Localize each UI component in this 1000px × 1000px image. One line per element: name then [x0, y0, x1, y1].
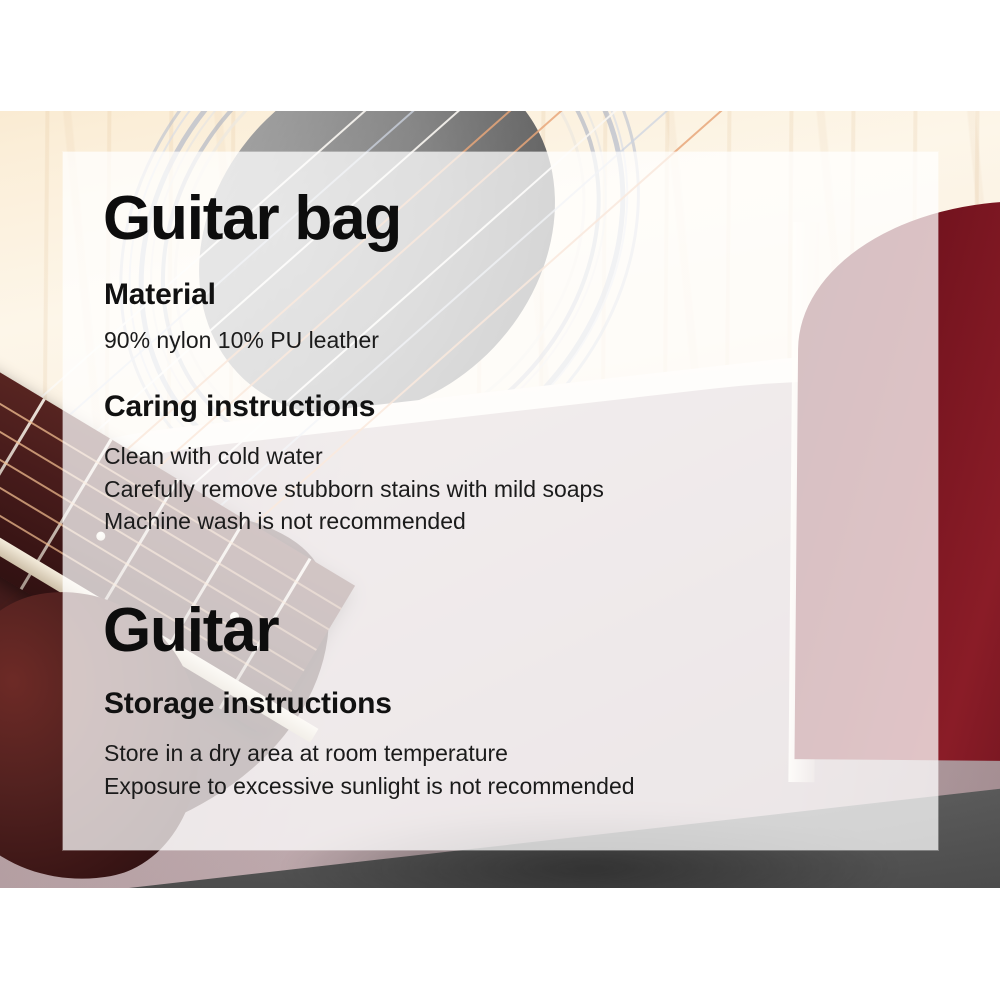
section-title-guitar: Guitar — [103, 600, 278, 662]
material-line: 90% nylon 10% PU leather — [104, 324, 379, 357]
storage-line: Store in a dry area at room temperature — [104, 737, 635, 770]
caring-line: Machine wash is not recommended — [104, 505, 604, 538]
material-lines: 90% nylon 10% PU leather — [104, 324, 379, 357]
heading-caring-instructions: Caring instructions — [104, 390, 375, 423]
section-title-guitar-bag: Guitar bag — [103, 188, 401, 250]
caring-instruction-lines: Clean with cold water Carefully remove s… — [104, 440, 604, 538]
card-content: Guitar bag Material 90% nylon 10% PU lea… — [103, 152, 923, 850]
caring-line: Carefully remove stubborn stains with mi… — [104, 473, 604, 506]
caring-line: Clean with cold water — [104, 440, 604, 473]
product-info-card: Guitar bag Material 90% nylon 10% PU lea… — [0, 0, 1000, 1000]
storage-instruction-lines: Store in a dry area at room temperature … — [104, 737, 635, 802]
heading-material: Material — [104, 278, 216, 311]
heading-storage-instructions: Storage instructions — [104, 687, 392, 720]
storage-line: Exposure to excessive sunlight is not re… — [104, 770, 635, 803]
